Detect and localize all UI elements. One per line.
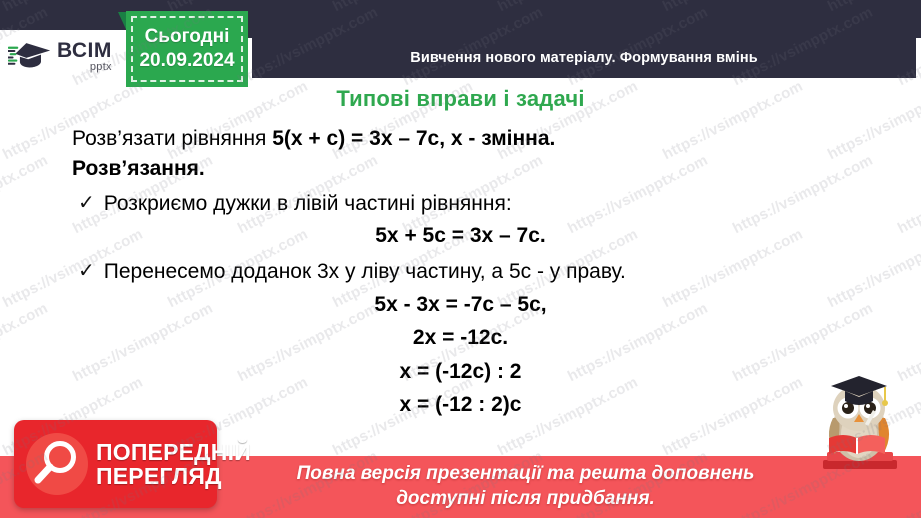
step-equation: x = (-12 : 2)c bbox=[40, 389, 881, 421]
step-text: Розкриємо дужки в лівій частині рівняння… bbox=[104, 189, 512, 219]
step-text: Перенесемо доданок 3х у ліву частину, а … bbox=[104, 257, 626, 287]
step-equation: x = (-12c) : 2 bbox=[40, 356, 881, 388]
purchase-notice-line-1: Повна версія презентації та решта доповн… bbox=[297, 462, 755, 487]
date-label: Сьогодні bbox=[145, 26, 230, 48]
logo-subtitle: pptx bbox=[57, 62, 112, 73]
step-equation: 2x = -12c. bbox=[40, 322, 881, 354]
problem-statement: Розв’язати рівняння 5(x + c) = 3x – 7c, … bbox=[40, 124, 881, 154]
preview-button-line-2: ПЕРЕГЛЯД bbox=[96, 464, 251, 488]
date-value: 20.09.2024 bbox=[139, 50, 234, 72]
check-icon: ✓ bbox=[78, 189, 95, 217]
step-equation: 5x + 5c = 3x – 7c. bbox=[40, 220, 881, 252]
purchase-notice-line-2: доступні після придбання. bbox=[297, 487, 755, 512]
magnifier-icon bbox=[26, 433, 88, 495]
step-row: ✓ Перенесемо доданок 3х у ліву частину, … bbox=[40, 257, 881, 287]
header-banner: Вивчення нового матеріалу. Формування вм… bbox=[252, 38, 916, 78]
logo-title: ВСІМ bbox=[57, 39, 112, 62]
solution-heading: Розв’язання. bbox=[40, 154, 881, 184]
header-banner-text: Вивчення нового матеріалу. Формування вм… bbox=[410, 50, 758, 66]
step-row: ✓ Розкриємо дужки в лівій частині рівнян… bbox=[40, 189, 881, 219]
lesson-body: Розв’язати рівняння 5(x + c) = 3x – 7c, … bbox=[0, 124, 921, 421]
owl-mascot-icon bbox=[803, 368, 915, 480]
step-equation: 5x - 3x = -7c – 5c, bbox=[40, 289, 881, 321]
check-icon: ✓ bbox=[78, 257, 95, 285]
problem-equation: 5(x + c) = 3x – 7c, x - змінна. bbox=[272, 127, 555, 150]
graduation-cap-icon bbox=[8, 39, 52, 73]
slide-content: Типові вправи і задачі Розв’язати рівнян… bbox=[0, 82, 921, 462]
slide-canvas: Вивчення нового матеріалу. Формування вм… bbox=[0, 0, 921, 518]
section-title: Типові вправи і задачі bbox=[0, 86, 921, 112]
preview-button-line-1: ПОПЕРЕДНІЙ bbox=[96, 440, 251, 464]
problem-prefix: Розв’язати рівняння bbox=[72, 127, 272, 150]
preview-button[interactable]: ПОПЕРЕДНІЙ ПЕРЕГЛЯД bbox=[14, 420, 217, 508]
date-badge: Сьогодні 20.09.2024 bbox=[126, 11, 248, 87]
